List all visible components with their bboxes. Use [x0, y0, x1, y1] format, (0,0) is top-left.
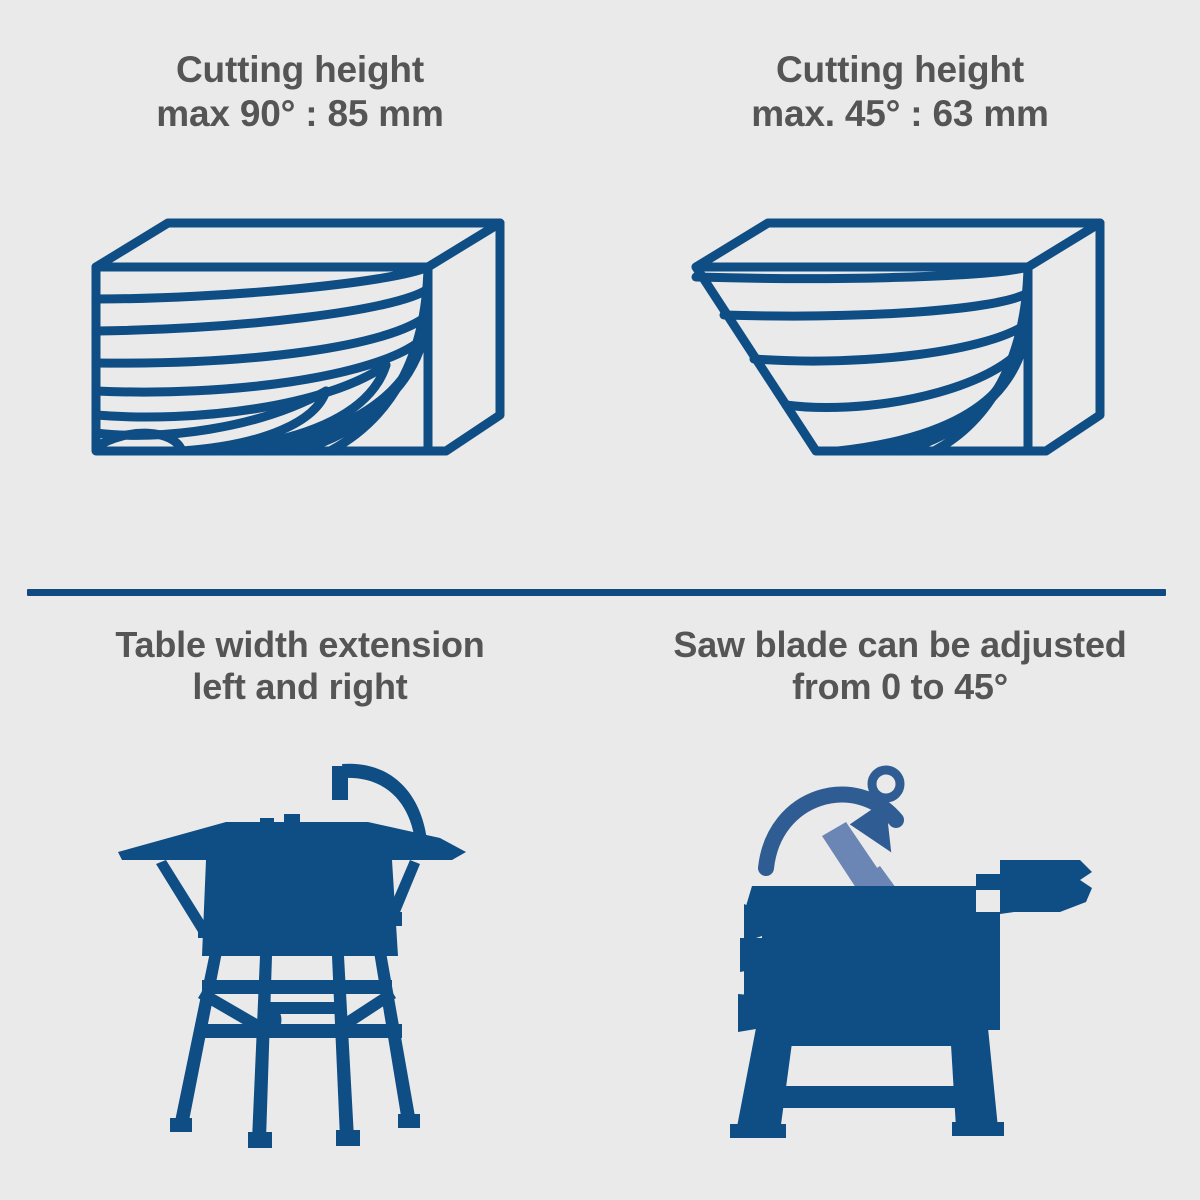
wood-block-straight-illustration: [0, 145, 600, 592]
panel-caption: Saw blade can be adjusted from 0 to 45°: [673, 624, 1126, 709]
panel-cutting-height-90: Cutting height max 90° : 85 mm: [0, 0, 600, 592]
panel-table-width-extension: Table width extension left and right: [0, 592, 600, 1200]
panel-cutting-height-45: Cutting height max. 45° : 63 mm: [600, 0, 1200, 592]
panel-caption: Cutting height max 90° : 85 mm: [156, 48, 443, 135]
panel-blade-tilt: Saw blade can be adjusted from 0 to 45°: [600, 592, 1200, 1200]
table-saw-tilting-blade-illustration: [600, 713, 1200, 1200]
panel-grid: Cutting height max 90° : 85 mm: [0, 0, 1200, 1200]
table-saw-tilting-blade-icon: [700, 756, 1100, 1156]
section-divider: [27, 589, 1166, 596]
wood-block-bevel-illustration: [600, 145, 1200, 592]
panel-caption: Table width extension left and right: [115, 624, 484, 709]
wood-block-bevel-icon: [690, 219, 1110, 519]
infographic-sheet: Cutting height max 90° : 85 mm: [0, 0, 1200, 1200]
panel-caption: Cutting height max. 45° : 63 mm: [751, 48, 1048, 135]
degree-symbol-icon: [872, 770, 900, 798]
table-saw-with-extensions-icon: [110, 756, 490, 1156]
table-saw-extensions-illustration: [0, 713, 600, 1200]
wood-block-straight-icon: [90, 219, 510, 519]
